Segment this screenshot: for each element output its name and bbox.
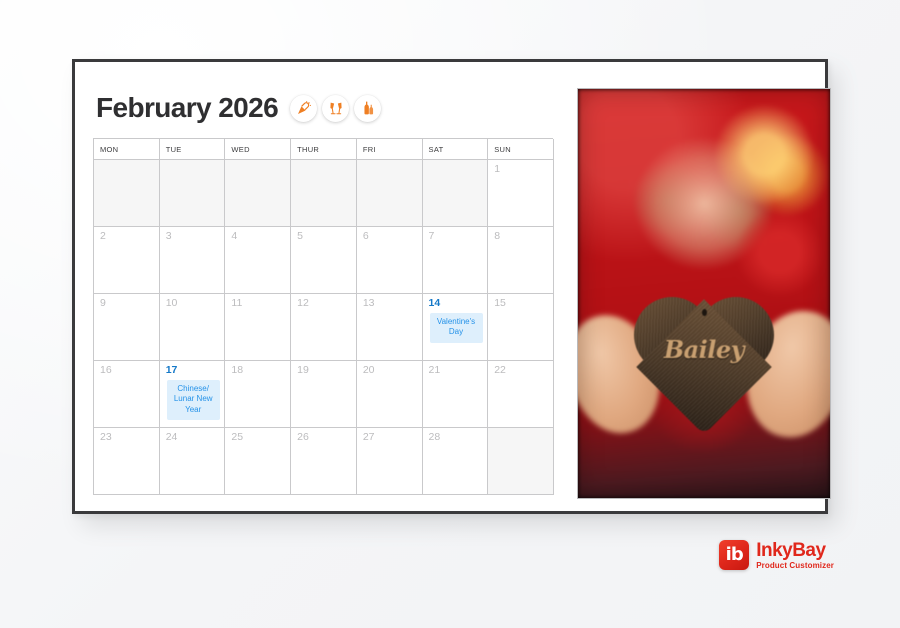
day-cell-16[interactable]: 16 (94, 361, 160, 428)
day-number: 3 (166, 231, 220, 243)
party-popper-icon (290, 95, 317, 122)
clinking-glasses-icon (322, 95, 349, 122)
day-cell-19[interactable]: 19 (291, 361, 357, 428)
photo-column: Bailey (563, 82, 831, 495)
calendar-week-row: 2345678 (94, 227, 553, 294)
day-number: 19 (297, 365, 351, 377)
day-cell-23[interactable]: 23 (94, 428, 160, 495)
day-cell-11[interactable]: 11 (225, 294, 291, 361)
day-number: 13 (363, 298, 417, 310)
day-cell-1[interactable]: 1 (488, 160, 554, 227)
day-number: 4 (231, 231, 285, 243)
day-number: 23 (100, 432, 154, 444)
day-cell-26[interactable]: 26 (291, 428, 357, 495)
day-number: 24 (166, 432, 220, 444)
day-number: 5 (297, 231, 351, 243)
day-number: 21 (429, 365, 483, 377)
day-cell-10[interactable]: 10 (160, 294, 226, 361)
day-cell-empty (160, 160, 226, 227)
day-cell-empty (488, 428, 554, 495)
day-cell-13[interactable]: 13 (357, 294, 423, 361)
engraved-name: Bailey (634, 335, 774, 364)
day-cell-18[interactable]: 18 (225, 361, 291, 428)
calendar-week-row: 232425262728 (94, 428, 553, 495)
day-number: 16 (100, 365, 154, 377)
day-cell-17[interactable]: 17Chinese/ Lunar New Year (160, 361, 226, 428)
day-cell-5[interactable]: 5 (291, 227, 357, 294)
day-number: 10 (166, 298, 220, 310)
day-number: 28 (429, 432, 483, 444)
day-number: 27 (363, 432, 417, 444)
day-header-thur: THUR (291, 139, 357, 160)
day-number: 20 (363, 365, 417, 377)
day-cell-22[interactable]: 22 (488, 361, 554, 428)
day-number: 12 (297, 298, 351, 310)
day-header-sat: SAT (423, 139, 489, 160)
day-header-tue: TUE (160, 139, 226, 160)
calendar-week-row: 91011121314Valentine's Day15 (94, 294, 553, 361)
day-number: 17 (166, 365, 220, 377)
day-cell-7[interactable]: 7 (423, 227, 489, 294)
calendar-weeks: 1234567891011121314Valentine's Day151617… (94, 160, 553, 495)
day-cell-9[interactable]: 9 (94, 294, 160, 361)
day-cell-14[interactable]: 14Valentine's Day (423, 294, 489, 361)
day-cell-empty (423, 160, 489, 227)
day-cell-27[interactable]: 27 (357, 428, 423, 495)
calendar-page-card: February 2026 (72, 59, 828, 514)
brand-tagline: Product Customizer (756, 562, 834, 570)
day-cell-21[interactable]: 21 (423, 361, 489, 428)
day-number: 15 (494, 298, 548, 310)
calendar-column: February 2026 (93, 82, 563, 495)
day-cell-3[interactable]: 3 (160, 227, 226, 294)
day-cell-empty (291, 160, 357, 227)
calendar-title-row: February 2026 (93, 82, 563, 134)
day-number: 1 (494, 164, 548, 176)
inkybay-mark-icon: ib (719, 540, 749, 570)
heart-hanging-hole (702, 309, 707, 316)
day-cell-25[interactable]: 25 (225, 428, 291, 495)
day-cell-empty (357, 160, 423, 227)
event-chip[interactable]: Valentine's Day (430, 313, 483, 343)
day-cell-8[interactable]: 8 (488, 227, 554, 294)
day-number: 11 (231, 298, 285, 310)
day-header-wed: WED (225, 139, 291, 160)
day-number: 9 (100, 298, 154, 310)
event-chip[interactable]: Chinese/ Lunar New Year (167, 380, 220, 421)
day-number: 14 (429, 298, 483, 310)
day-cell-4[interactable]: 4 (225, 227, 291, 294)
day-number: 8 (494, 231, 548, 243)
day-cell-empty (94, 160, 160, 227)
day-number: 2 (100, 231, 154, 243)
day-cell-2[interactable]: 2 (94, 227, 160, 294)
day-number: 6 (363, 231, 417, 243)
day-cell-15[interactable]: 15 (488, 294, 554, 361)
brand-text-block: InkyBay Product Customizer (756, 541, 834, 570)
day-number: 18 (231, 365, 285, 377)
day-header-sun: SUN (488, 139, 554, 160)
day-cell-24[interactable]: 24 (160, 428, 226, 495)
day-cell-12[interactable]: 12 (291, 294, 357, 361)
month-title: February 2026 (96, 92, 278, 124)
day-cell-20[interactable]: 20 (357, 361, 423, 428)
calendar-week-row: 1617Chinese/ Lunar New Year1819202122 (94, 361, 553, 428)
day-number: 25 (231, 432, 285, 444)
wooden-heart-ornament: Bailey (634, 297, 774, 429)
brand-name: InkyBay (756, 541, 834, 560)
brand-logo[interactable]: ib InkyBay Product Customizer (719, 540, 834, 570)
day-header-mon: MON (94, 139, 160, 160)
celebration-bottles-icon (354, 95, 381, 122)
day-cell-6[interactable]: 6 (357, 227, 423, 294)
brand-mark-text: ib (726, 546, 743, 564)
day-header-fri: FRI (357, 139, 423, 160)
day-number: 22 (494, 365, 548, 377)
calendar-week-row: 1 (94, 160, 553, 227)
calendar-grid: MONTUEWEDTHURFRISATSUN 12345678910111213… (93, 138, 553, 495)
day-cell-empty (225, 160, 291, 227)
product-photo[interactable]: Bailey (577, 88, 831, 499)
card-inner: February 2026 (75, 62, 825, 511)
day-number: 7 (429, 231, 483, 243)
day-number: 26 (297, 432, 351, 444)
title-icon-group (290, 95, 381, 122)
day-header-row: MONTUEWEDTHURFRISATSUN (94, 139, 553, 160)
day-cell-28[interactable]: 28 (423, 428, 489, 495)
